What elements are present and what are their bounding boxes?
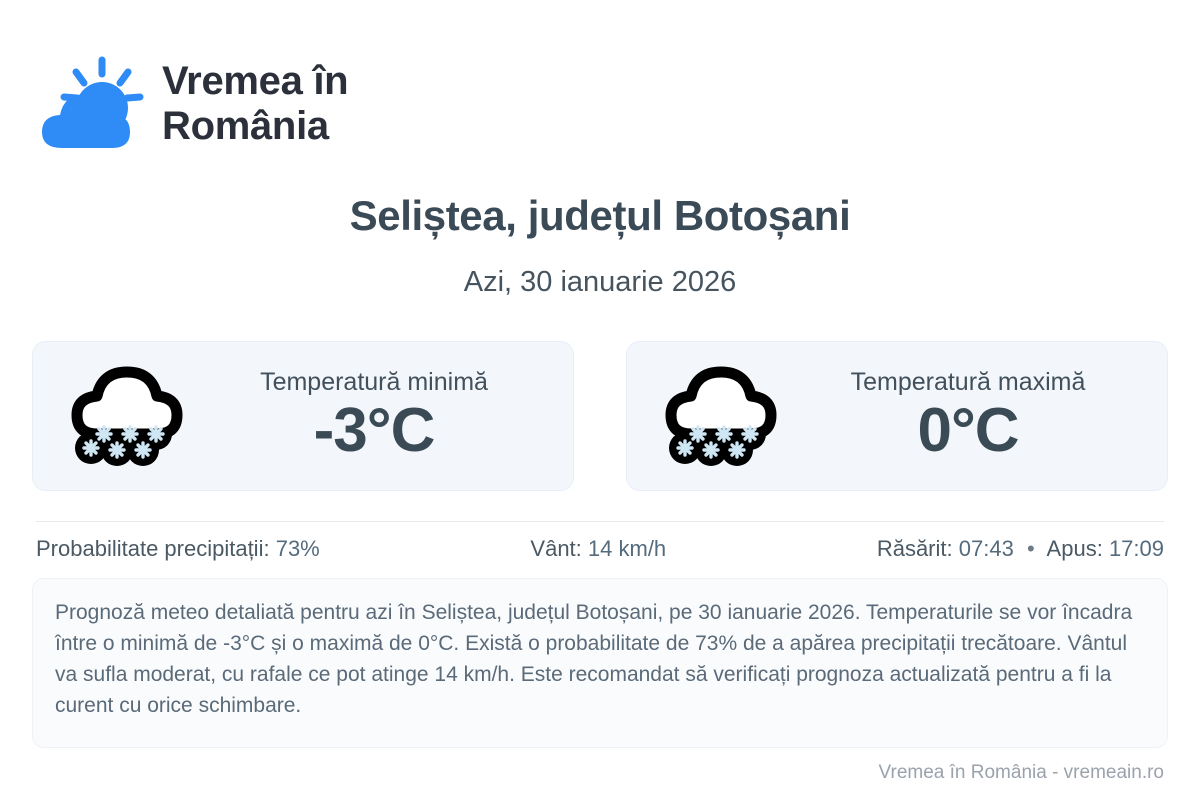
sunset-value: 17:09 (1109, 536, 1164, 561)
precipitation-stat: Probabilitate precipitații: 73% (36, 536, 320, 562)
sunrise-value: 07:43 (959, 536, 1014, 561)
sun-behind-cloud-icon (36, 52, 144, 156)
min-temperature-card: Temperatură minimă -3°C (32, 341, 574, 491)
max-temperature-body: Temperatură maximă 0°C (791, 369, 1159, 464)
weather-page: Vremea în România Seliștea, județul Boto… (0, 0, 1200, 800)
wind-value: 14 km/h (588, 536, 666, 561)
snow-cloud-icon (661, 360, 785, 472)
min-temperature-label: Temperatură minimă (197, 369, 551, 397)
weather-stats-row: Probabilitate precipitații: 73% Vânt: 14… (36, 536, 1164, 562)
stats-divider (36, 521, 1164, 522)
sunset-label: Apus: (1047, 536, 1103, 561)
max-temperature-label: Temperatură maximă (791, 369, 1145, 397)
wind-stat: Vânt: 14 km/h (320, 536, 877, 562)
forecast-description-panel: Prognoză meteo detaliată pentru azi în S… (32, 578, 1168, 748)
temperature-cards: Temperatură minimă -3°C (32, 341, 1168, 491)
stat-separator: • (1020, 536, 1042, 561)
precipitation-label: Probabilitate precipitații: (36, 536, 270, 561)
sunrise-label: Răsărit: (877, 536, 953, 561)
snow-cloud-icon (67, 360, 191, 472)
page-title: Seliștea, județul Botoșani (0, 192, 1200, 240)
precipitation-value: 73% (276, 536, 320, 561)
brand-name: Vremea în România (162, 59, 348, 149)
page-date: Azi, 30 ianuarie 2026 (0, 266, 1200, 299)
max-temperature-value: 0°C (791, 398, 1145, 463)
footer-credit: Vremea în România - vremeain.ro (879, 762, 1164, 784)
min-temperature-value: -3°C (197, 398, 551, 463)
sun-times-stat: Răsărit: 07:43 • Apus: 17:09 (877, 536, 1164, 562)
wind-label: Vânt: (530, 536, 581, 561)
max-temperature-card: Temperatură maximă 0°C (626, 341, 1168, 491)
forecast-description-text: Prognoză meteo detaliată pentru azi în S… (55, 597, 1141, 721)
site-header: Vremea în România (36, 52, 348, 156)
min-temperature-body: Temperatură minimă -3°C (197, 369, 565, 464)
